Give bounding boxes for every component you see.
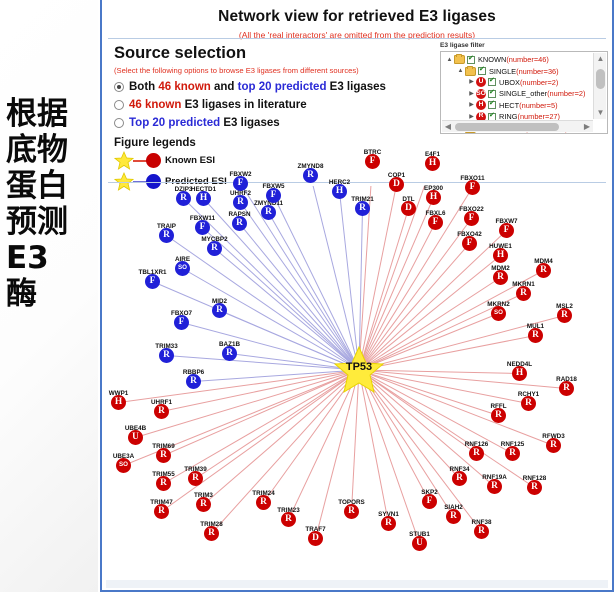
filter-node-name: KNOWN xyxy=(478,55,506,64)
network-node-type-h-icon[interactable]: H xyxy=(512,366,527,381)
network-node-rffl[interactable]: RFFLR xyxy=(491,408,506,423)
radio-icon[interactable] xyxy=(114,118,124,128)
label-part: top 20 predicted xyxy=(238,81,327,93)
network-node-rbbp6[interactable]: RBBP6R xyxy=(186,374,201,389)
network-node-type-r-icon[interactable]: R xyxy=(222,346,237,361)
expand-arrow-icon[interactable]: ▲ xyxy=(445,57,454,63)
network-node-type-r-icon[interactable]: R xyxy=(344,504,359,519)
network-graph[interactable]: TP53 DZIP3RZMYND8RHERC2HTRIM21RBTRCFCOP1… xyxy=(106,186,612,586)
network-node-mkrn2[interactable]: MKRN2SO xyxy=(491,306,506,321)
network-node-type-f-icon[interactable]: F xyxy=(422,494,437,509)
network-node-type-r-icon[interactable]: R xyxy=(159,228,174,243)
filter-tree-box[interactable]: ▲KNOWN(number=46)▲SINGLE(number=36)▶UUBO… xyxy=(440,51,608,134)
network-node-ep300[interactable]: EP300H xyxy=(426,190,441,205)
network-node-rad18[interactable]: RAD18R xyxy=(559,381,574,396)
type-badge-u-icon: U xyxy=(476,77,486,87)
network-node-nedd4l[interactable]: NEDD4LH xyxy=(512,366,527,381)
network-node-fbxw5[interactable]: FBXW5F xyxy=(266,188,281,203)
label-part: E3 ligases xyxy=(220,117,279,129)
network-node-fbxo42[interactable]: FBXO42F xyxy=(462,236,477,251)
network-node-rapsn[interactable]: RAPSNR xyxy=(232,216,247,231)
filter-node-label: UBOX(number=2) xyxy=(499,78,558,87)
network-node-type-r-icon[interactable]: R xyxy=(381,516,396,531)
network-node-rnf19a[interactable]: RNF19AR xyxy=(487,479,502,494)
network-node-zmynd11[interactable]: ZMYND11R xyxy=(261,205,276,220)
network-node-fbxw7[interactable]: FBXW7F xyxy=(499,223,514,238)
filter-node-name: UBOX xyxy=(499,78,520,87)
network-node-type-r-icon[interactable]: R xyxy=(261,205,276,220)
network-node-type-r-icon[interactable]: R xyxy=(452,471,467,486)
network-node-type-h-icon[interactable]: H xyxy=(493,248,508,263)
network-node-fbxl6[interactable]: FBXL6F xyxy=(428,215,443,230)
source-option-2[interactable]: 46 known E3 ligases in literature xyxy=(114,99,434,111)
network-node-ube3a[interactable]: UBE3ASO xyxy=(116,458,131,473)
filter-node-label: KNOWN(number=46) xyxy=(478,55,549,64)
label-part: Both xyxy=(129,81,158,93)
network-node-type-r-icon[interactable]: R xyxy=(156,476,171,491)
network-view-pane: Network view for retrieved E3 ligases (A… xyxy=(100,0,614,592)
network-node-hectd1[interactable]: HECTD1H xyxy=(196,191,211,206)
radio-icon[interactable] xyxy=(114,100,124,110)
network-node-type-f-icon[interactable]: F xyxy=(465,180,480,195)
type-badge-so-icon: SO xyxy=(476,89,486,99)
network-node-rnf125[interactable]: RNF125R xyxy=(505,446,520,461)
filter-checkbox[interactable] xyxy=(488,78,496,86)
network-node-mycbp2[interactable]: MYCBP2R xyxy=(207,241,222,256)
filter-panel-caption: E3 ligase filter xyxy=(440,42,608,49)
network-node-rnf34[interactable]: RNF34R xyxy=(452,471,467,486)
network-node-type-r-icon[interactable]: R xyxy=(559,381,574,396)
source-option-1[interactable]: Both 46 known and top 20 predicted E3 li… xyxy=(114,81,434,93)
source-selection-heading: Source selection xyxy=(114,44,434,63)
network-node-type-r-icon[interactable]: R xyxy=(557,308,572,323)
network-node-type-h-icon[interactable]: H xyxy=(426,190,441,205)
network-node-ube4b[interactable]: UBE4BU xyxy=(128,430,143,445)
network-node-type-r-icon[interactable]: R xyxy=(505,446,520,461)
network-node-zmynd8[interactable]: ZMYND8R xyxy=(303,168,318,183)
scroll-right-arrow-icon[interactable]: ▶ xyxy=(581,121,593,133)
legend-edge-line xyxy=(133,160,147,162)
filter-node-label: SINGLE_other(number=2) xyxy=(499,89,586,98)
network-node-skp2[interactable]: SKP2F xyxy=(422,494,437,509)
expand-arrow-icon[interactable]: ▶ xyxy=(467,114,476,120)
network-node-type-f-icon[interactable]: F xyxy=(365,154,380,169)
network-node-huwe1[interactable]: HUWE1H xyxy=(493,248,508,263)
network-node-type-r-icon[interactable]: R xyxy=(256,495,271,510)
network-node-type-h-icon[interactable]: H xyxy=(332,184,347,199)
source-option-label: 46 known E3 ligases in literature xyxy=(129,99,307,111)
filter-tree-node-hect[interactable]: ▶HHECT(number=5) xyxy=(441,100,591,111)
network-node-type-u-icon[interactable]: U xyxy=(128,430,143,445)
network-node-type-r-icon[interactable]: R xyxy=(491,408,506,423)
star-icon xyxy=(114,151,134,170)
network-node-type-r-icon[interactable]: R xyxy=(528,328,543,343)
filter-checkbox[interactable] xyxy=(488,90,496,98)
network-node-type-r-icon[interactable]: R xyxy=(446,509,461,524)
network-edge xyxy=(274,196,360,371)
network-node-type-f-icon[interactable]: F xyxy=(233,176,248,191)
network-node-type-h-icon[interactable]: H xyxy=(196,191,211,206)
network-node-type-so-icon[interactable]: SO xyxy=(491,306,506,321)
network-node-type-r-icon[interactable]: R xyxy=(156,448,171,463)
network-node-type-f-icon[interactable]: F xyxy=(464,211,479,226)
network-node-type-f-icon[interactable]: F xyxy=(499,223,514,238)
filter-node-count: (number=2) xyxy=(547,89,585,98)
legend-node-dot xyxy=(146,153,161,168)
network-node-type-r-icon[interactable]: R xyxy=(521,396,536,411)
filter-horizontal-scrollbar[interactable]: ◀ ▶ xyxy=(442,120,593,132)
network-edge xyxy=(359,370,567,389)
filter-checkbox[interactable] xyxy=(467,56,475,64)
network-node-e4f1[interactable]: E4F1H xyxy=(425,156,440,171)
filter-node-label: SINGLE(number=36) xyxy=(489,67,559,76)
network-node-type-r-icon[interactable]: R xyxy=(546,438,561,453)
center-node-label: TP53 xyxy=(333,361,385,373)
network-node-fbxo11[interactable]: FBXO11F xyxy=(465,180,480,195)
network-node-trim69[interactable]: TRIM69R xyxy=(156,448,171,463)
network-node-cop1[interactable]: COP1D xyxy=(389,177,404,192)
network-node-uhrf1[interactable]: UHRF1R xyxy=(154,404,169,419)
network-node-baz1b[interactable]: BAZ1BR xyxy=(222,346,237,361)
network-node-msl2[interactable]: MSL2R xyxy=(557,308,572,323)
scroll-down-arrow-icon[interactable]: ▼ xyxy=(594,107,607,119)
network-node-mid2[interactable]: MID2R xyxy=(212,303,227,318)
network-node-stub1[interactable]: STUB1U xyxy=(412,536,427,551)
network-node-trim24[interactable]: TRIM24R xyxy=(256,495,271,510)
filter-node-count: (number=2) xyxy=(520,78,558,87)
network-node-type-d-icon[interactable]: D xyxy=(308,531,323,546)
vertical-scroll-thumb[interactable] xyxy=(596,69,605,89)
network-node-type-r-icon[interactable]: R xyxy=(212,303,227,318)
filter-node-count: (number=46) xyxy=(506,55,549,64)
filter-checkbox[interactable] xyxy=(478,67,486,75)
network-node-trim33[interactable]: TRIM33R xyxy=(159,348,174,363)
filter-node-name: SINGLE_other xyxy=(499,89,547,98)
network-node-type-r-icon[interactable]: R xyxy=(303,168,318,183)
filter-node-name: HECT xyxy=(499,101,519,110)
network-node-rnf128[interactable]: RNF128R xyxy=(527,480,542,495)
network-node-type-r-icon[interactable]: R xyxy=(536,263,551,278)
network-node-siah2[interactable]: SIAH2R xyxy=(446,509,461,524)
filter-checkbox[interactable] xyxy=(488,101,496,109)
network-node-trim39[interactable]: TRIM39R xyxy=(188,471,203,486)
network-node-trim55[interactable]: TRIM55R xyxy=(156,476,171,491)
network-node-type-r-icon[interactable]: R xyxy=(281,512,296,527)
filter-tree-node-known[interactable]: ▲KNOWN(number=46) xyxy=(441,54,591,65)
side-caption-panel: 根据底物蛋白预测E3酶 xyxy=(0,0,98,592)
figure-legends-heading: Figure legends xyxy=(114,137,294,149)
network-node-type-r-icon[interactable]: R xyxy=(493,270,508,285)
network-node-mul1[interactable]: MUL1R xyxy=(528,328,543,343)
network-node-uhrf2[interactable]: UHRF2R xyxy=(233,195,248,210)
network-node-fbxo7[interactable]: FBXO7F xyxy=(174,315,189,330)
network-node-type-d-icon[interactable]: D xyxy=(401,201,416,216)
filter-node-count: (number=5) xyxy=(519,101,557,110)
source-option-label: Both 46 known and top 20 predicted E3 li… xyxy=(129,81,386,93)
filter-node-count: (number=36) xyxy=(516,67,559,76)
source-selection-block: Source selection (Select the following o… xyxy=(114,44,434,129)
expand-arrow-icon[interactable]: ▲ xyxy=(456,68,465,74)
network-node-type-f-icon[interactable]: F xyxy=(195,220,210,235)
network-node-type-f-icon[interactable]: F xyxy=(266,188,281,203)
scroll-up-arrow-icon[interactable]: ▲ xyxy=(594,53,607,65)
network-node-syvn1[interactable]: SYVN1R xyxy=(381,516,396,531)
expand-arrow-icon[interactable]: ▶ xyxy=(467,102,476,108)
folder-icon xyxy=(454,55,465,64)
network-node-type-r-icon[interactable]: R xyxy=(204,526,219,541)
label-part: and xyxy=(211,81,238,93)
network-node-type-so-icon[interactable]: SO xyxy=(175,261,190,276)
source-selection-note: (Select the following options to browse … xyxy=(114,66,434,75)
network-node-type-so-icon[interactable]: SO xyxy=(116,458,131,473)
network-node-type-f-icon[interactable]: F xyxy=(174,315,189,330)
network-divider xyxy=(108,182,606,183)
network-node-aire[interactable]: AIRESO xyxy=(175,261,190,276)
network-node-type-r-icon[interactable]: R xyxy=(154,404,169,419)
network-node-type-u-icon[interactable]: U xyxy=(412,536,427,551)
filter-node-name: SINGLE xyxy=(489,67,516,76)
network-node-fbxw2[interactable]: FBXW2F xyxy=(233,176,248,191)
filter-vertical-scrollbar[interactable]: ▲ ▼ xyxy=(593,53,606,119)
network-node-type-h-icon[interactable]: H xyxy=(425,156,440,171)
network-node-trim28[interactable]: TRIM28R xyxy=(204,526,219,541)
network-node-type-r-icon[interactable]: R xyxy=(176,191,191,206)
network-node-dtl[interactable]: DTLD xyxy=(401,201,416,216)
network-node-type-r-icon[interactable]: R xyxy=(207,241,222,256)
network-node-wwp1[interactable]: WWP1H xyxy=(111,395,126,410)
scroll-left-arrow-icon[interactable]: ◀ xyxy=(442,121,454,133)
network-node-herc2[interactable]: HERC2H xyxy=(332,184,347,199)
network-node-type-r-icon[interactable]: R xyxy=(355,201,370,216)
network-node-type-r-icon[interactable]: R xyxy=(196,497,211,512)
e3-ligase-filter-panel[interactable]: E3 ligase filter ▲KNOWN(number=46)▲SINGL… xyxy=(440,42,608,134)
network-node-type-f-icon[interactable]: F xyxy=(145,274,160,289)
network-node-type-d-icon[interactable]: D xyxy=(389,177,404,192)
filter-node-label: HECT(number=5) xyxy=(499,101,558,110)
source-radio-group[interactable]: Both 46 known and top 20 predicted E3 li… xyxy=(114,81,434,129)
folder-icon xyxy=(465,67,476,76)
network-node-type-f-icon[interactable]: F xyxy=(462,236,477,251)
network-node-mdm2[interactable]: MDM2R xyxy=(493,270,508,285)
label-part: E3 ligases in literature xyxy=(181,99,306,111)
filter-tree-node-ubox[interactable]: ▶UUBOX(number=2) xyxy=(441,77,591,88)
legend-label: Known ESI xyxy=(165,155,215,166)
source-option-label: Top 20 predicted E3 ligases xyxy=(129,117,280,129)
network-node-trim21[interactable]: TRIM21R xyxy=(355,201,370,216)
network-node-traip[interactable]: TRAIPR xyxy=(159,228,174,243)
network-node-trim47[interactable]: TRIM47R xyxy=(154,504,169,519)
network-node-type-r-icon[interactable]: R xyxy=(232,216,247,231)
side-caption-text: 根据底物蛋白预测E3酶 xyxy=(6,96,68,312)
screenshot-root: 根据底物蛋白预测E3酶 Network view for retrieved E… xyxy=(0,0,614,592)
network-node-mkrn1[interactable]: MKRN1R xyxy=(516,286,531,301)
network-node-rnf38[interactable]: RNF38R xyxy=(474,524,489,539)
label-part: 46 known xyxy=(158,81,210,93)
network-node-type-f-icon[interactable]: F xyxy=(428,215,443,230)
network-edge xyxy=(359,186,433,370)
network-node-fbxw11[interactable]: FBXW11F xyxy=(195,220,210,235)
source-option-3[interactable]: Top 20 predicted E3 ligases xyxy=(114,117,434,129)
radio-icon[interactable] xyxy=(114,82,124,92)
network-node-tbl1xr1[interactable]: TBL1XR1F xyxy=(145,274,160,289)
network-node-type-r-icon[interactable]: R xyxy=(516,286,531,301)
network-node-type-r-icon[interactable]: R xyxy=(233,195,248,210)
legend-item: Known ESI xyxy=(114,151,294,170)
pane-bottom-bar xyxy=(106,580,608,588)
network-node-type-r-icon[interactable]: R xyxy=(159,348,174,363)
network-node-trim23[interactable]: TRIM23R xyxy=(281,512,296,527)
label-part: Top 20 predicted xyxy=(129,117,220,129)
label-part: E3 ligases xyxy=(326,81,385,93)
horizontal-scroll-thumb[interactable] xyxy=(455,123,559,131)
network-node-type-r-icon[interactable]: R xyxy=(186,374,201,389)
network-node-btrc[interactable]: BTRCF xyxy=(365,154,380,169)
network-node-type-r-icon[interactable]: R xyxy=(527,480,542,495)
network-node-fbxo22[interactable]: FBXO22F xyxy=(464,211,479,226)
network-node-type-h-icon[interactable]: H xyxy=(111,395,126,410)
network-node-rchy1[interactable]: RCHY1R xyxy=(521,396,536,411)
filter-tree-node-single_other[interactable]: ▶SOSINGLE_other(number=2) xyxy=(441,88,591,99)
network-node-type-r-icon[interactable]: R xyxy=(188,471,203,486)
type-badge-h-icon: H xyxy=(476,100,486,110)
network-node-mdm4[interactable]: MDM4R xyxy=(536,263,551,278)
expand-arrow-icon[interactable]: ▶ xyxy=(467,91,476,97)
network-node-type-r-icon[interactable]: R xyxy=(154,504,169,519)
network-node-topors[interactable]: TOPORSR xyxy=(344,504,359,519)
page-title: Network view for retrieved E3 ligases xyxy=(102,0,612,26)
filter-tree-node-single[interactable]: ▲SINGLE(number=36) xyxy=(441,65,591,76)
network-node-traf7[interactable]: TRAF7D xyxy=(308,531,323,546)
network-node-dzip3[interactable]: DZIP3R xyxy=(176,191,191,206)
expand-arrow-icon[interactable]: ▶ xyxy=(467,79,476,85)
network-node-trim3[interactable]: TRIM3R xyxy=(196,497,211,512)
network-edge xyxy=(311,186,360,370)
network-node-rnf126[interactable]: RNF126R xyxy=(469,446,484,461)
network-node-type-r-icon[interactable]: R xyxy=(487,479,502,494)
network-node-type-r-icon[interactable]: R xyxy=(469,446,484,461)
header-divider xyxy=(108,38,606,39)
network-node-rfwd3[interactable]: RFWD3R xyxy=(546,438,561,453)
label-part: 46 known xyxy=(129,99,181,111)
network-node-type-r-icon[interactable]: R xyxy=(474,524,489,539)
